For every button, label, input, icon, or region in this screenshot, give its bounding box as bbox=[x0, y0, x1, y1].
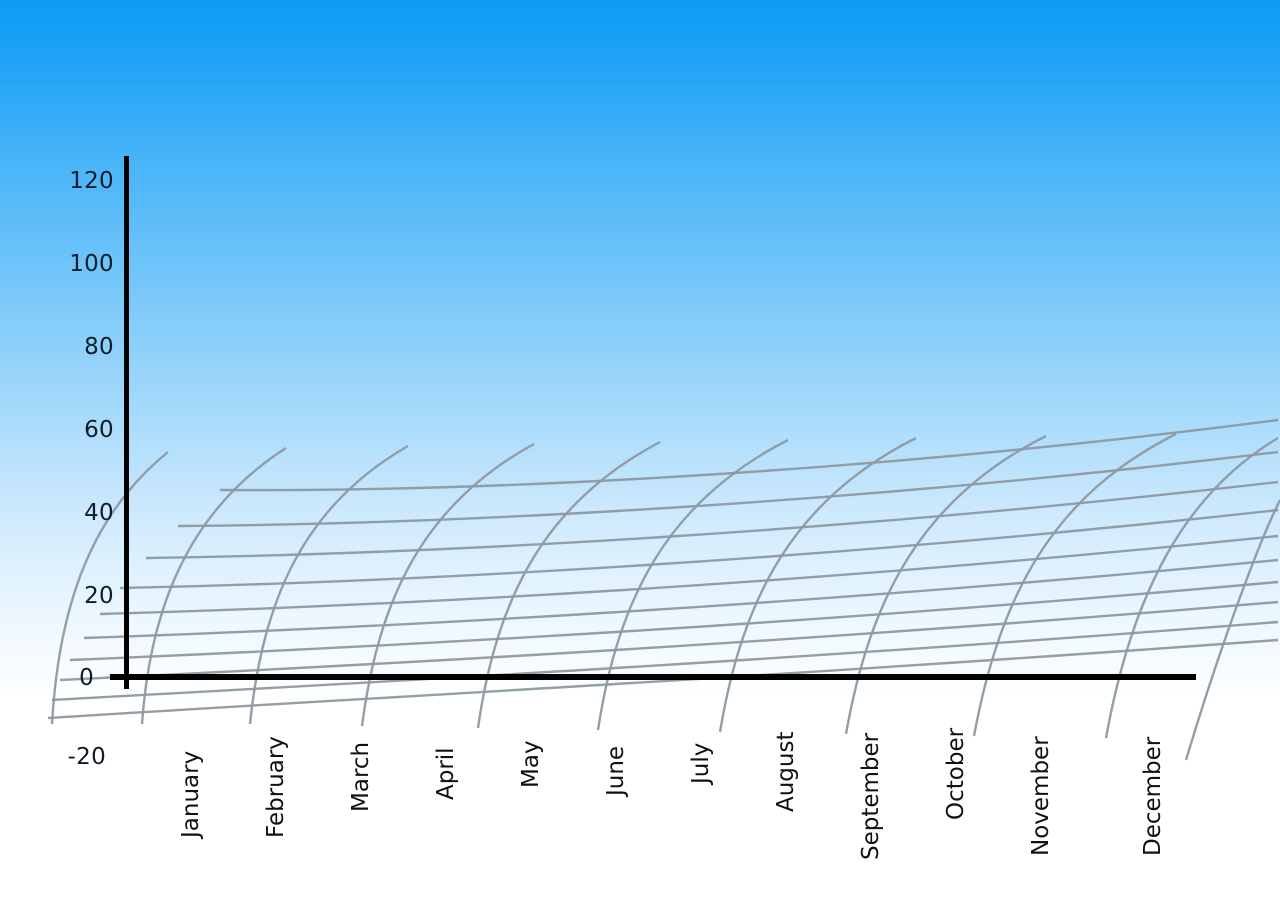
ytick-0: 0 bbox=[58, 665, 94, 691]
zero-tick-mark bbox=[112, 674, 138, 680]
xtick-label-april: April bbox=[433, 747, 459, 800]
xtick-label-september: September bbox=[858, 733, 884, 860]
xtick-label-december: December bbox=[1140, 737, 1166, 856]
ytick-100: 100 bbox=[58, 251, 114, 277]
ytick-80: 80 bbox=[58, 334, 114, 360]
xtick-label-march: March bbox=[348, 742, 374, 812]
ytick-60: 60 bbox=[58, 417, 114, 443]
ytick-120: 120 bbox=[58, 168, 114, 194]
xtick-label-october: October bbox=[943, 728, 969, 820]
xtick-label-january: January bbox=[178, 751, 204, 838]
xtick-label-november: November bbox=[1028, 736, 1054, 856]
x-axis-zero-line bbox=[110, 674, 1196, 680]
xtick-label-june: June bbox=[603, 746, 629, 796]
xtick-label-august: August bbox=[773, 732, 799, 813]
ytick-40: 40 bbox=[58, 500, 114, 526]
y-axis-line bbox=[124, 156, 129, 689]
ytick-20: 20 bbox=[58, 583, 114, 609]
chart-canvas: 120 100 80 60 40 20 0 -20 bbox=[0, 0, 1280, 905]
plot-area: 120 100 80 60 40 20 0 -20 bbox=[0, 0, 1280, 905]
xtick-label-july: July bbox=[688, 743, 714, 784]
xtick-label-may: May bbox=[518, 740, 544, 788]
ytick-neg20: -20 bbox=[50, 744, 106, 770]
xtick-label-february: February bbox=[263, 736, 289, 838]
